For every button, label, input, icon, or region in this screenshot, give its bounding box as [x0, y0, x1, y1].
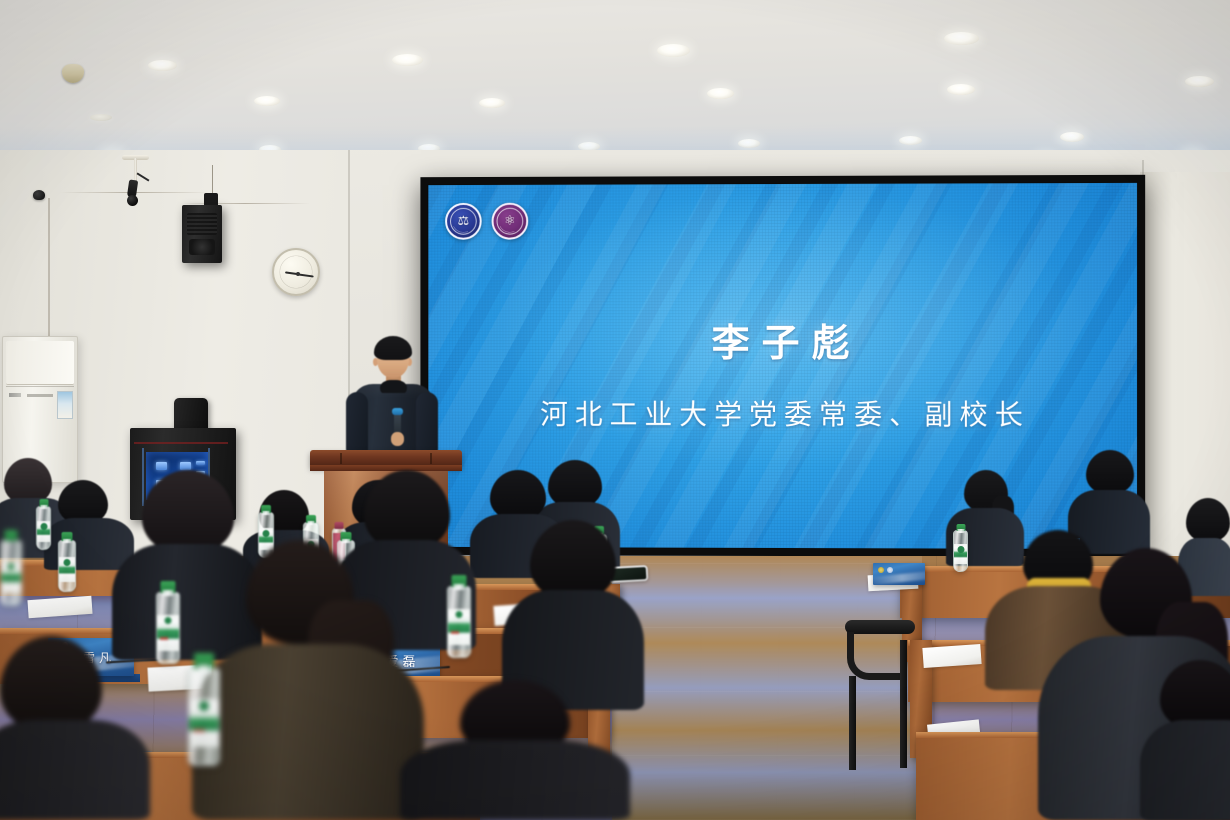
person-body: [400, 740, 630, 820]
bottle-logo-icon: [456, 611, 463, 618]
ceiling-downlight: [254, 96, 280, 106]
bottle-logo-icon: [199, 701, 209, 711]
person-head: [364, 470, 450, 550]
ceiling-downlight: [1060, 132, 1084, 142]
ac-top-panel: [6, 341, 74, 385]
microphone-head-icon: [392, 408, 403, 415]
emblem-glyph: ⚛: [504, 215, 516, 228]
bottle-logo-icon: [8, 563, 15, 570]
camera-lens-icon: [127, 195, 138, 206]
bottle-label: [189, 699, 219, 747]
bottle-neck: [197, 665, 211, 673]
conference-hall-photo: ⚖ ⚛ 李子彪 河北工业大学党委常委、副校长: [0, 0, 1230, 820]
bottle-logo-icon: [263, 530, 270, 537]
bottle-logo-icon: [165, 617, 172, 624]
wooden-chair[interactable]: [845, 620, 915, 770]
person-body: [0, 720, 150, 820]
bottle-neck: [163, 590, 174, 596]
presenter-at-podium: [344, 336, 440, 458]
bottle-label: [1, 561, 21, 593]
presenter-arm-left: [346, 392, 368, 454]
water-bottle: [36, 506, 51, 550]
ceiling-downlight: [707, 88, 734, 99]
water-bottle: [156, 592, 180, 664]
person-head: [1186, 498, 1230, 542]
ceiling-downlight: [899, 136, 922, 145]
slide-logos: ⚖ ⚛: [445, 203, 528, 240]
chair-leg: [849, 676, 856, 770]
wall-crack: [180, 203, 310, 204]
paper-sheet: [922, 644, 981, 668]
water-bottle: [58, 540, 76, 592]
ceiling-downlight: [1185, 76, 1214, 87]
university-emblem-purple-icon: ⚛: [492, 203, 529, 240]
rack-top-equipment: [174, 398, 208, 430]
slide-speaker-name: 李子彪: [428, 312, 1137, 367]
bottle-neck: [957, 529, 964, 533]
person-head: [0, 636, 102, 732]
person-body: [1140, 720, 1230, 820]
bottle-logo-icon: [64, 559, 71, 566]
presenter-hand: [391, 432, 404, 446]
bottle-neck: [263, 511, 270, 515]
presenter-hair: [374, 336, 412, 360]
audience-person: [400, 680, 630, 820]
presenter-collar: [380, 380, 407, 393]
clock-center-pin: [296, 272, 300, 276]
wall-speaker-icon: [182, 205, 222, 263]
bottle-redmark: [193, 729, 205, 732]
ceiling-downlight: [947, 84, 975, 95]
water-bottle: [0, 540, 22, 606]
bottle-label: [59, 557, 75, 582]
wall-clock: [272, 248, 320, 296]
speaker-wire: [212, 165, 213, 195]
placard-logo-dot: [887, 567, 893, 573]
bottle-label: [954, 544, 967, 564]
bottle-redmark: [160, 637, 169, 640]
ac-label-text: [27, 394, 53, 397]
control-button[interactable]: [180, 462, 191, 470]
control-button[interactable]: [196, 461, 205, 465]
placard-logos: [878, 567, 893, 573]
ceiling-downlight: [148, 60, 177, 71]
podium-notch: [340, 453, 342, 464]
name-placard: [873, 563, 925, 585]
ceiling-downlight: [738, 139, 760, 148]
security-camera-icon: [33, 190, 45, 200]
ac-energy-label: [57, 391, 73, 419]
audience-person: [208, 540, 408, 820]
camera-mount-pole: [134, 158, 137, 182]
rack-accent-strip: [134, 442, 228, 444]
person-head: [530, 520, 616, 600]
bottle-neck: [63, 539, 71, 543]
water-bottle: [953, 530, 968, 572]
bottle-redmark: [451, 631, 460, 634]
bottle-logo-icon: [957, 546, 964, 553]
ac-seam: [6, 386, 74, 387]
bottle-label: [37, 521, 50, 542]
person-head: [1086, 450, 1134, 494]
ceiling-downlight: [479, 98, 505, 108]
bottle-logo-icon: [40, 523, 47, 530]
audience-person: [0, 636, 150, 820]
placard-logo-dot: [878, 567, 884, 573]
water-bottle: [447, 586, 471, 658]
person-head: [490, 470, 546, 520]
ceiling-downlight: [657, 44, 690, 57]
bottle-neck: [454, 584, 465, 590]
ceiling-downlight: [944, 32, 979, 45]
person-coat: [192, 644, 424, 820]
bottle-neck: [308, 521, 315, 525]
bottle-label: [448, 609, 470, 645]
ac-brand-mark: [9, 393, 21, 397]
emblem-glyph: ⚖: [458, 215, 470, 228]
water-bottle: [188, 668, 220, 766]
bottle-label: [157, 615, 179, 651]
university-emblem-blue-icon: ⚖: [445, 203, 482, 240]
bottle-cap: [5, 530, 18, 541]
wall-conduit: [48, 198, 50, 343]
chair-armrest: [847, 632, 907, 680]
podium-notch: [430, 453, 432, 464]
slide-text-block: 李子彪 河北工业大学党委常委、副校长: [428, 312, 1137, 434]
slide-speaker-title: 河北工业大学党委常委、副校长: [428, 393, 1137, 434]
ceiling-downlight: [392, 54, 423, 66]
control-button[interactable]: [156, 462, 167, 470]
chair-leg: [900, 640, 907, 768]
presenter-arm-right: [416, 392, 438, 454]
ceiling-downlight: [90, 114, 112, 121]
bottle-neck: [40, 505, 47, 509]
smoke-detector: [62, 64, 84, 83]
audience-person: [1150, 660, 1230, 820]
